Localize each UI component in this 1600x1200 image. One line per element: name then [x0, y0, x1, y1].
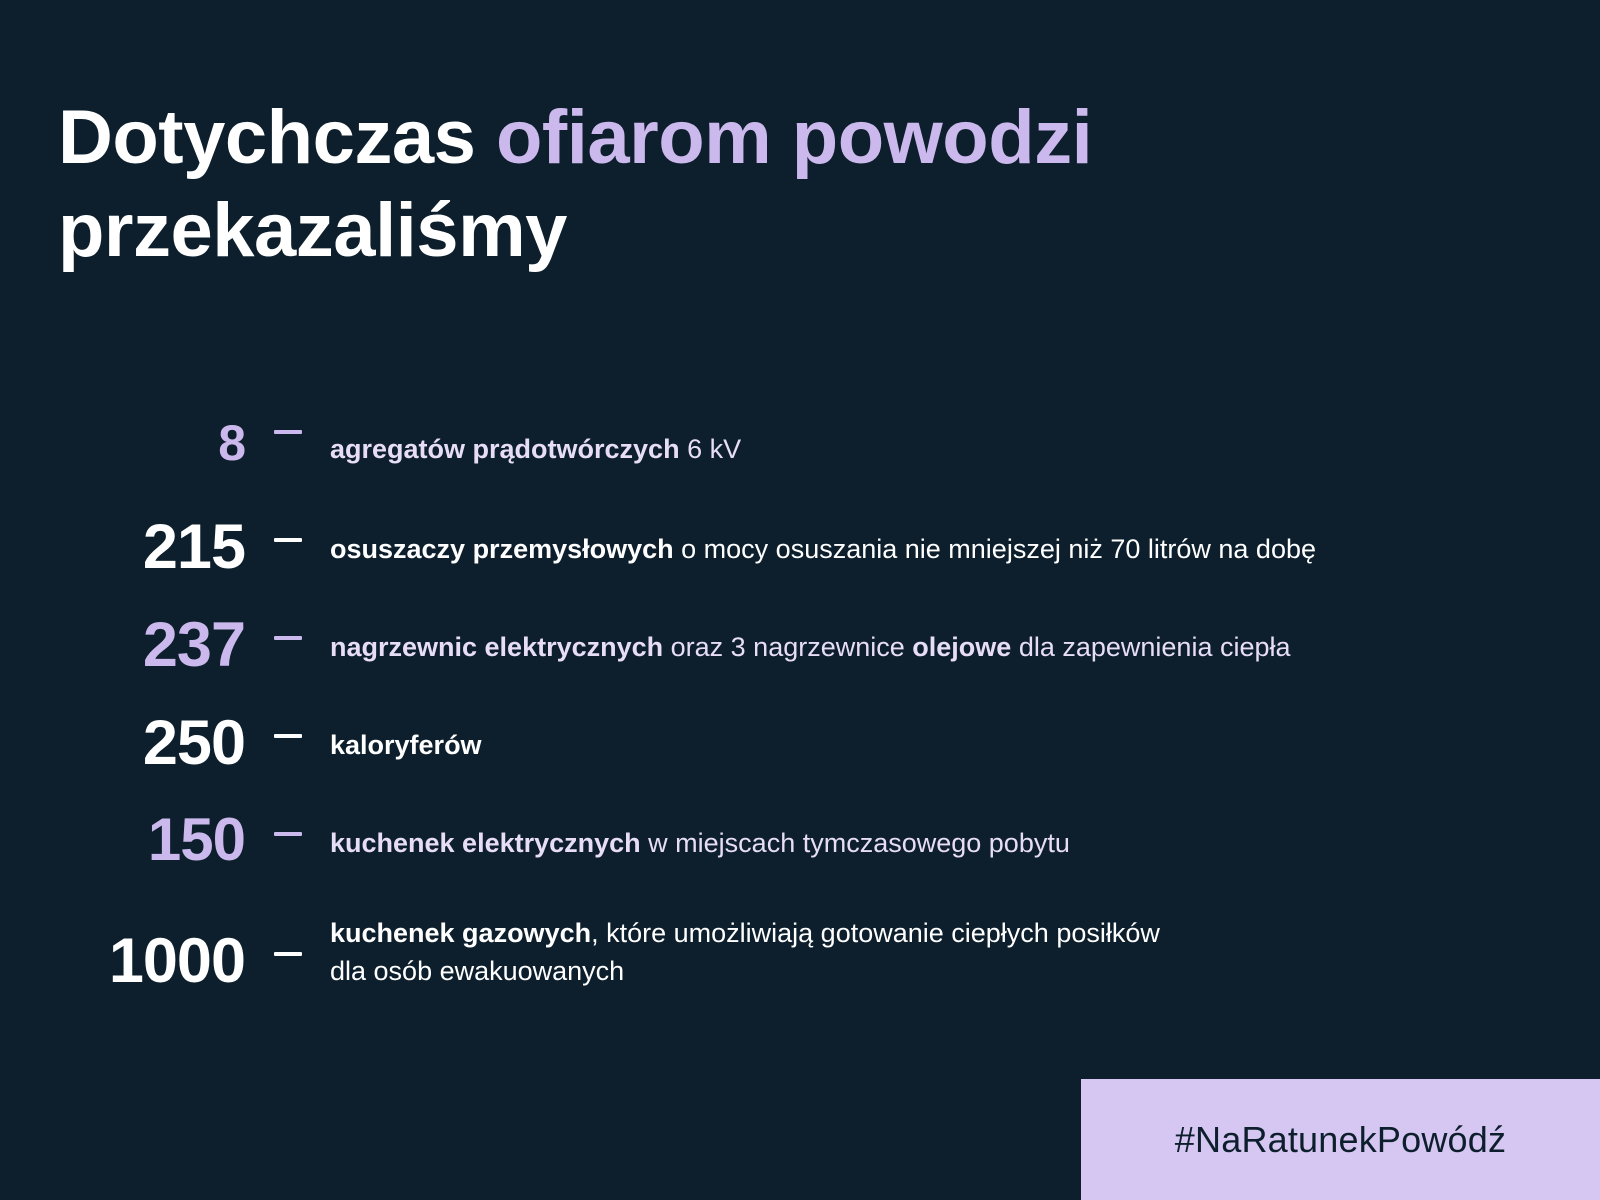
stat-label-bold-2: olejowe [912, 632, 1011, 662]
stat-label-bold: nagrzewnic elektrycznych [330, 632, 663, 662]
stat-label-bold: osuszaczy przemysłowych [330, 534, 674, 564]
stat-label-rest: w miejscach tymczasowego pobytu [641, 828, 1070, 858]
stat-label-rest: 6 kV [680, 434, 742, 464]
stat-number: 250 [0, 712, 245, 775]
dash-separator-icon [245, 418, 330, 434]
dash-separator-icon [245, 614, 330, 640]
stat-number: 150 [0, 810, 245, 870]
list-item: 250 kaloryferów [0, 712, 1600, 810]
dash-separator-icon [245, 712, 330, 738]
stat-label-bold: kuchenek elektrycznych [330, 828, 641, 858]
stat-description: kaloryferów [330, 712, 1600, 764]
stat-description: osuszaczy przemysłowych o mocy osuszania… [330, 516, 1600, 568]
hashtag-badge: #NaRatunekPowódź [1081, 1079, 1600, 1200]
stat-label-rest: oraz 3 nagrzewnice [663, 632, 912, 662]
stat-label-bold: kuchenek gazowych [330, 918, 591, 948]
dash-separator-icon [245, 516, 330, 542]
stat-description: agregatów prądotwórczych 6 kV [330, 418, 1600, 468]
list-item: 8 agregatów prądotwórczych 6 kV [0, 418, 1600, 516]
stat-label-line2: dla osób ewakuowanych [330, 956, 624, 986]
hashtag-text: #NaRatunekPowódź [1175, 1119, 1506, 1161]
stat-label-rest: , które umożliwiają gotowanie ciepłych p… [591, 918, 1160, 948]
stat-description: nagrzewnic elektrycznych oraz 3 nagrzewn… [330, 614, 1600, 666]
headline-part-3: przekazaliśmy [58, 188, 567, 273]
stat-number: 215 [0, 516, 245, 579]
list-item: 150 kuchenek elektrycznych w miejscach t… [0, 810, 1600, 908]
list-item: 237 nagrzewnic elektrycznych oraz 3 nagr… [0, 614, 1600, 712]
stat-number: 1000 [0, 908, 245, 993]
dash-separator-icon [245, 810, 330, 836]
stat-label-bold: kaloryferów [330, 730, 482, 760]
stat-number: 8 [0, 418, 245, 468]
headline-accent: ofiarom powodzi [496, 95, 1092, 180]
stat-description: kuchenek elektrycznych w miejscach tymcz… [330, 810, 1600, 862]
page-title: Dotychczas ofiarom powodzi przekazaliśmy [58, 92, 1358, 277]
stat-label-tail: dla zapewnienia ciepła [1011, 632, 1290, 662]
stat-label-bold: agregatów prądotwórczych [330, 434, 680, 464]
list-item: 1000 kuchenek gazowych, które umożliwiaj… [0, 908, 1600, 1024]
stat-label-rest: o mocy osuszania nie mniejszej niż 70 li… [674, 534, 1316, 564]
infographic-poster: Dotychczas ofiarom powodzi przekazaliśmy… [0, 0, 1600, 1200]
statistics-list: 8 agregatów prądotwórczych 6 kV 215 osus… [0, 418, 1600, 1024]
list-item: 215 osuszaczy przemysłowych o mocy osusz… [0, 516, 1600, 614]
dash-separator-icon [245, 908, 330, 956]
stat-number: 237 [0, 614, 245, 677]
headline-part-1: Dotychczas [58, 95, 496, 180]
stat-description: kuchenek gazowych, które umożliwiają got… [330, 908, 1600, 991]
